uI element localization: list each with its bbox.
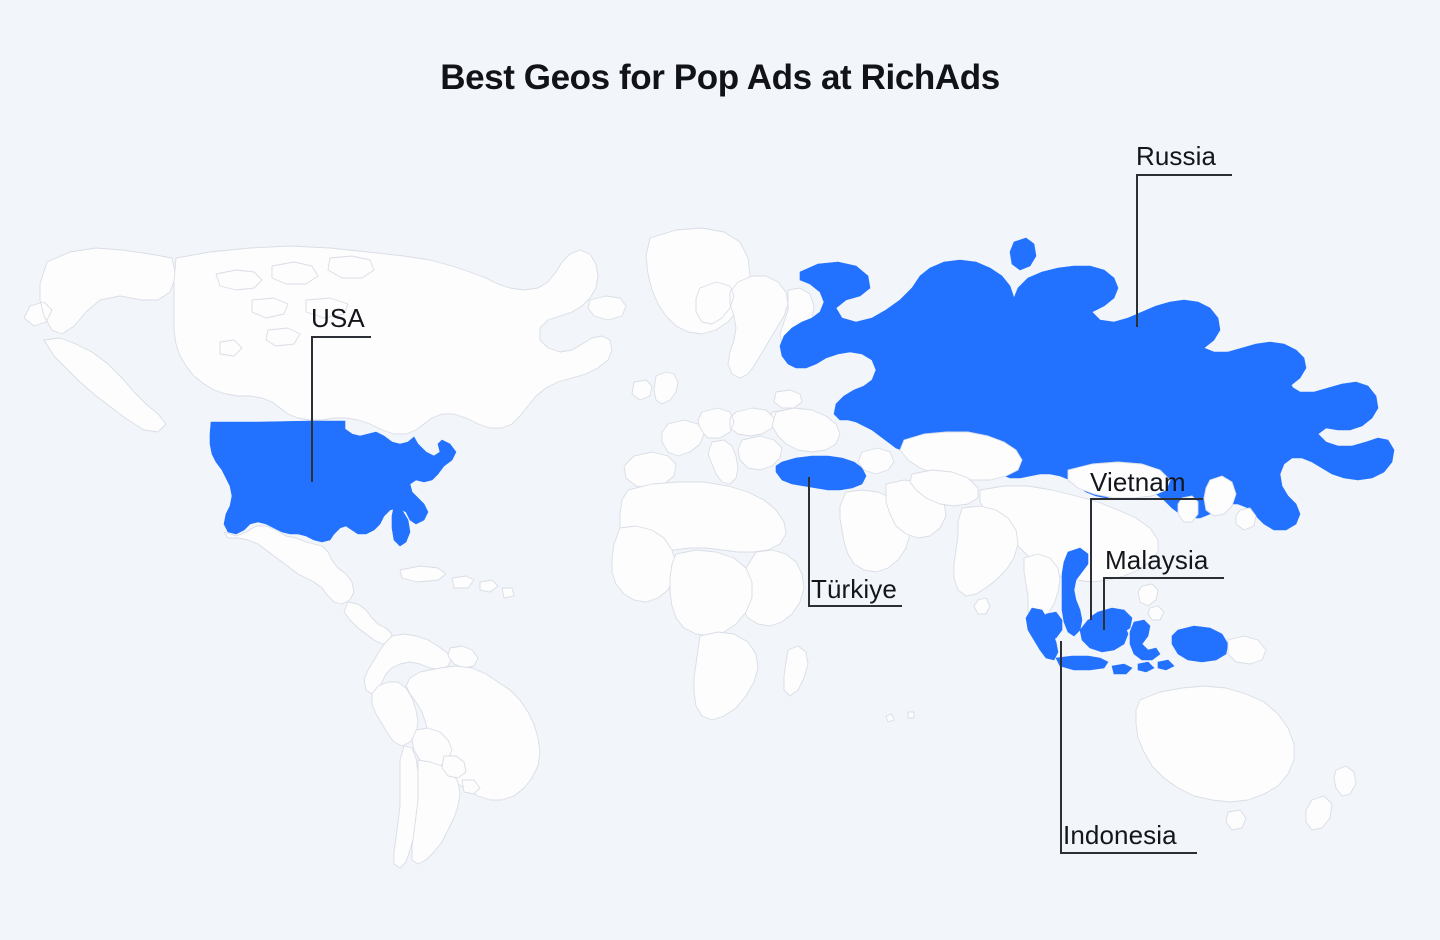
leader-line-usa <box>311 336 313 482</box>
country-alaska <box>24 248 176 432</box>
infographic-page: Best Geos for Pop Ads at RichAds <box>0 0 1440 940</box>
country-caucasus <box>858 448 894 474</box>
country-poland-germany <box>698 408 774 438</box>
country-central-africa <box>670 550 752 636</box>
country-indonesia-papua <box>1172 626 1228 662</box>
leader-underline-indonesia <box>1060 852 1197 854</box>
leader-line-indonesia <box>1060 641 1062 852</box>
leader-underline-vietnam <box>1090 498 1203 500</box>
leader-underline-usa <box>311 336 371 338</box>
country-ukraine-belarus <box>772 408 840 452</box>
country-tasmania <box>1226 810 1246 830</box>
country-indonesia-lesser-sunda <box>1112 660 1174 674</box>
label-indonesia: Indonesia <box>1063 820 1177 851</box>
country-guyanas <box>448 646 478 668</box>
country-madagascar <box>784 646 808 696</box>
leader-line-malaysia <box>1103 577 1105 630</box>
country-indonesia-java <box>1056 656 1108 670</box>
country-indonesia-sulawesi <box>1130 620 1160 660</box>
country-iceland <box>588 296 626 320</box>
country-russia-novaya-zemlya <box>1010 238 1036 270</box>
world-map-svg <box>0 0 1440 940</box>
country-france-spain <box>624 420 704 488</box>
label-russia: Russia <box>1136 141 1216 172</box>
country-usa-highlighted <box>210 421 456 542</box>
country-new-zealand <box>1306 766 1356 830</box>
country-central-america <box>344 602 392 644</box>
country-india <box>954 506 1018 596</box>
world-map <box>0 0 1440 940</box>
country-southern-africa <box>694 632 758 720</box>
country-sri-lanka <box>974 598 990 614</box>
country-uk-ireland <box>632 372 678 404</box>
leader-underline-malaysia <box>1103 577 1224 579</box>
country-italy-balkans <box>708 436 782 484</box>
country-caribbean <box>400 566 514 598</box>
leader-line-russia <box>1136 174 1138 327</box>
leader-underline-russia <box>1136 174 1232 176</box>
label-turkiye: Türkiye <box>811 574 897 605</box>
label-malaysia: Malaysia <box>1105 545 1208 576</box>
country-mexico <box>224 526 354 604</box>
country-papua-new-guinea <box>1228 636 1266 664</box>
leader-underline-turkiye <box>808 605 902 607</box>
country-small-islands <box>886 712 914 722</box>
leader-line-vietnam <box>1090 498 1092 620</box>
country-turkiye-highlighted <box>776 456 866 490</box>
country-philippines <box>1138 584 1164 620</box>
leader-line-turkiye <box>808 477 810 605</box>
label-usa: USA <box>311 303 365 334</box>
country-australia <box>1136 686 1294 802</box>
label-vietnam: Vietnam <box>1090 467 1186 498</box>
country-vietnam-highlighted <box>1062 548 1088 636</box>
